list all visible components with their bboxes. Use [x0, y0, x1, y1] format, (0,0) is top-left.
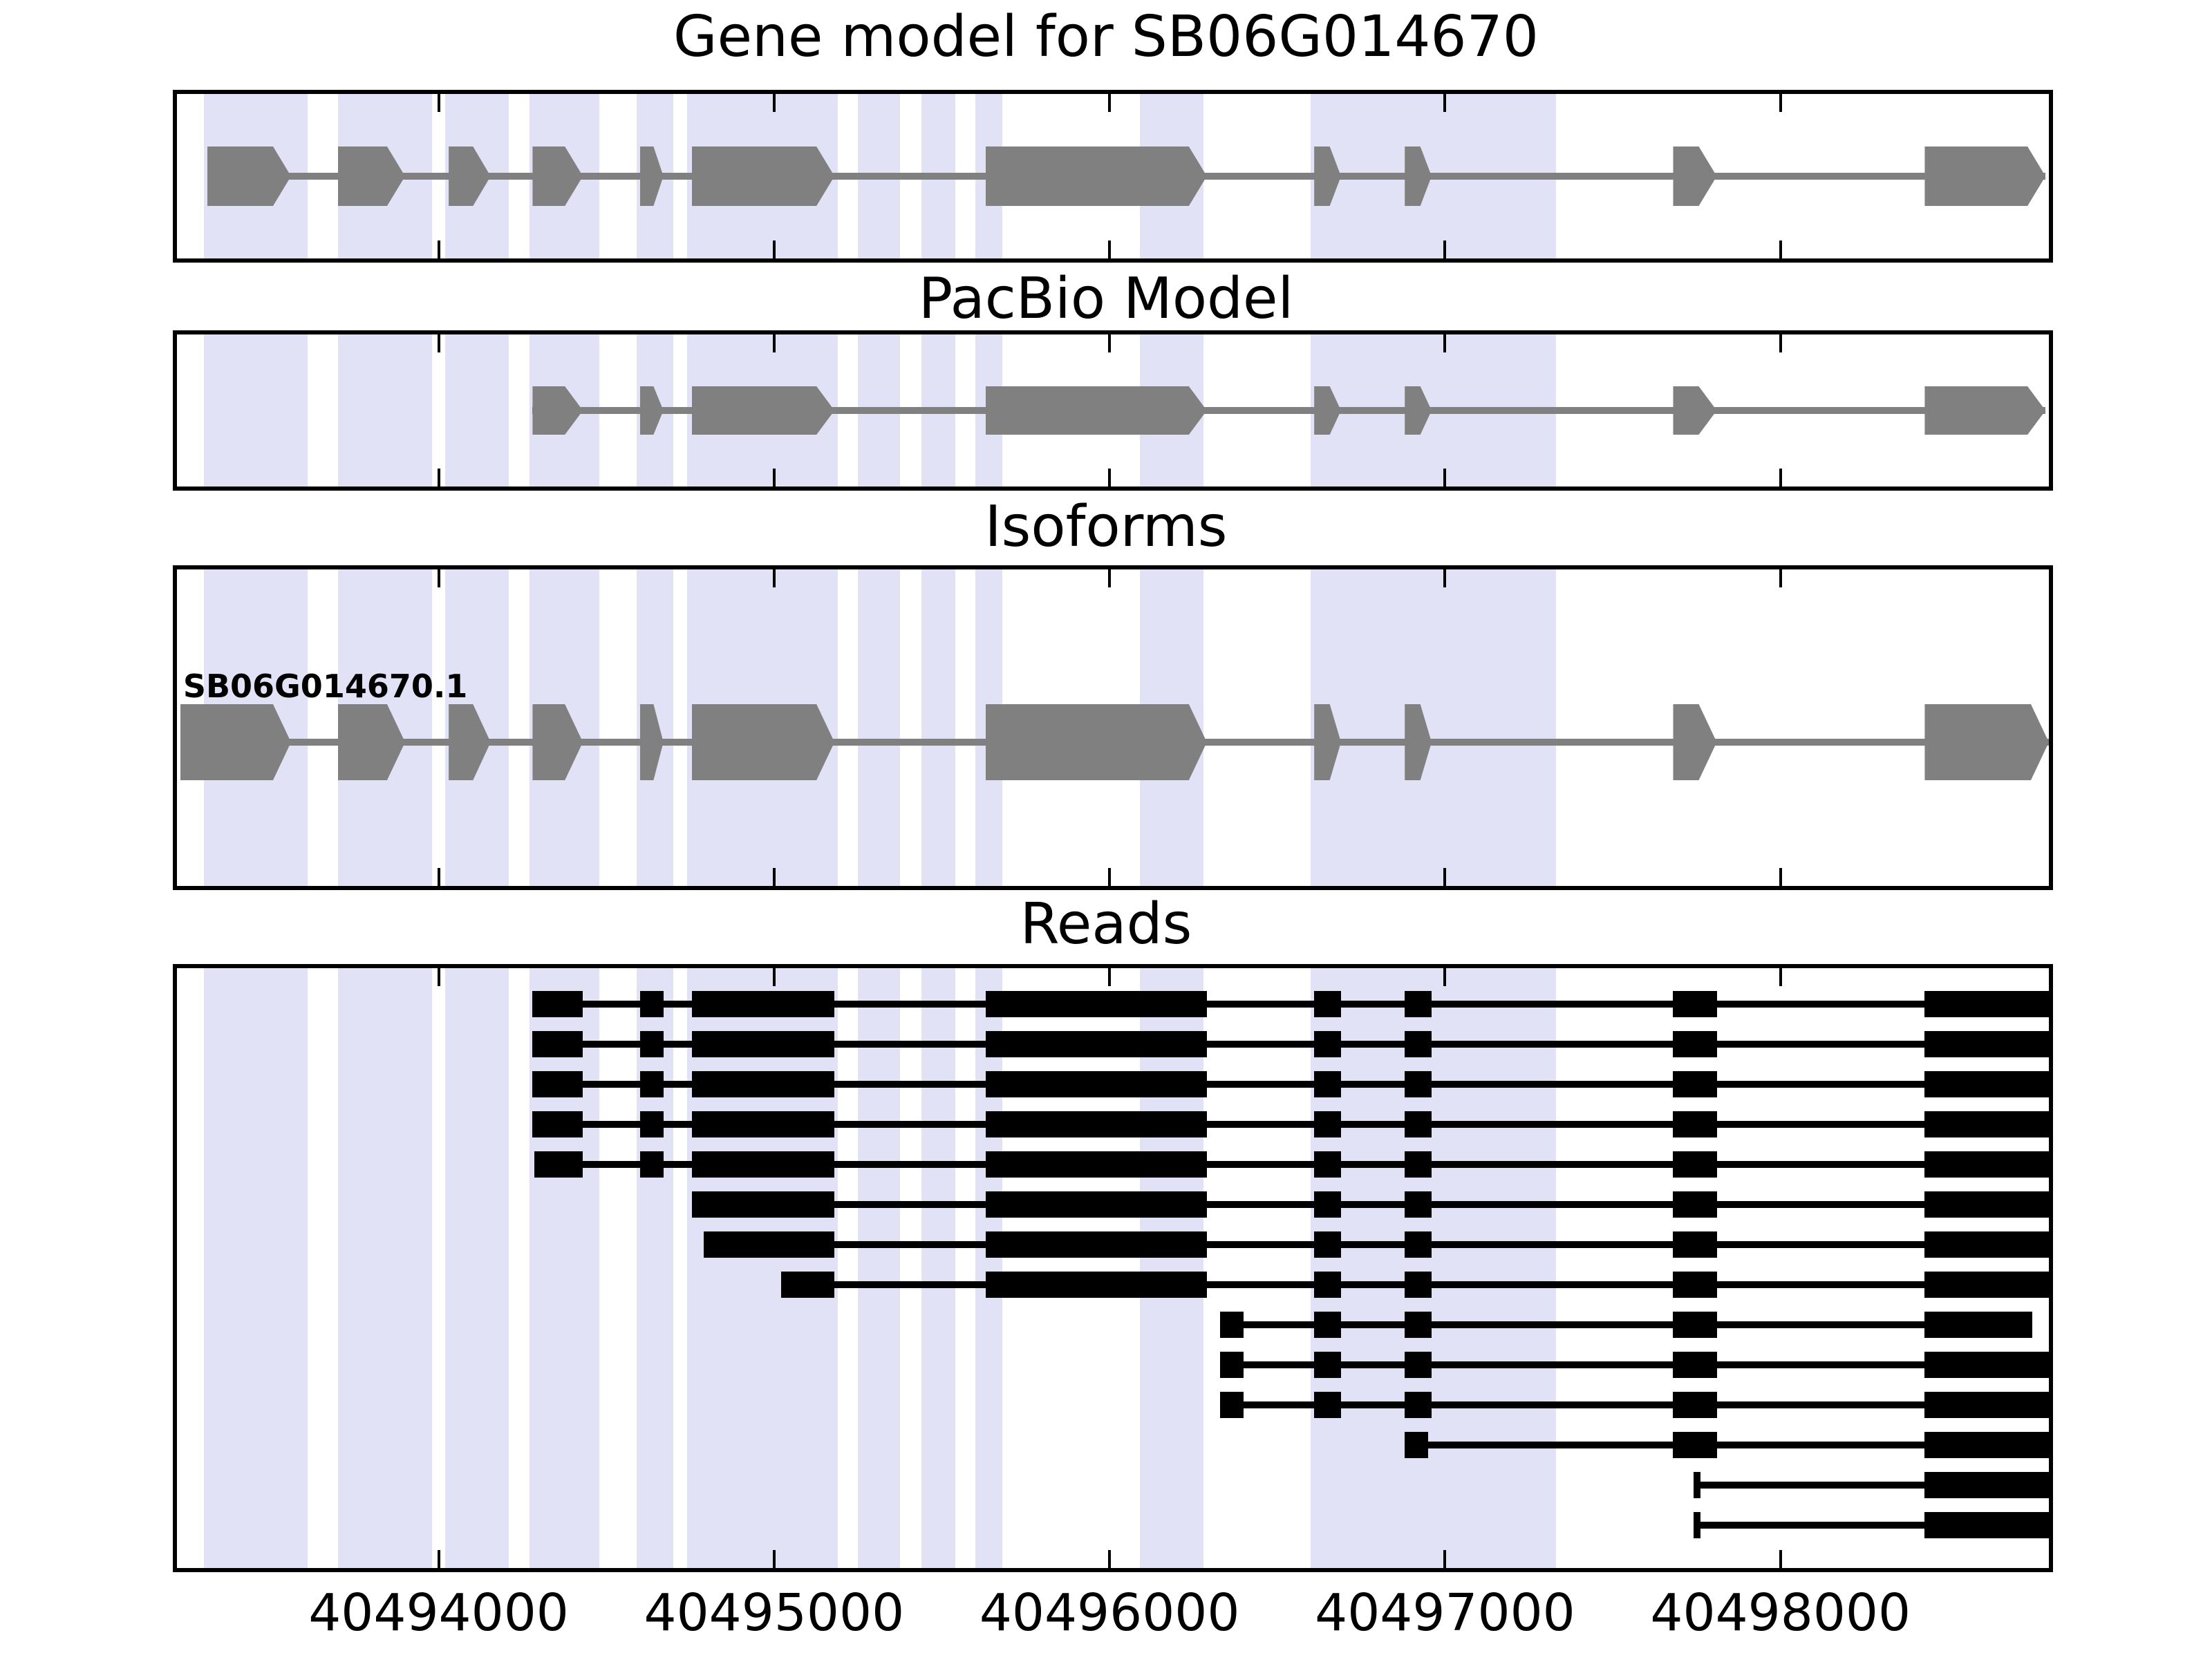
axis-tick-mark	[773, 1550, 776, 1568]
read-intron-line	[692, 1201, 2049, 1208]
read-block	[1673, 1111, 1716, 1137]
panel-title-reads: Reads	[0, 891, 2212, 957]
axis-tick-mark	[1108, 240, 1111, 258]
axis-tick-mark	[1779, 240, 1782, 258]
highlight-band	[858, 569, 900, 886]
exon-block	[207, 147, 291, 206]
read-block	[692, 991, 834, 1017]
read-block	[1673, 1231, 1716, 1258]
x-axis-tick-label: 40497000	[1315, 1583, 1575, 1643]
read-block	[781, 1272, 835, 1298]
axis-tick-mark	[1779, 94, 1782, 112]
isoform-label: SB06G014670.1	[183, 668, 467, 705]
exon-block	[1673, 704, 1716, 780]
axis-tick-mark	[1443, 1550, 1446, 1568]
read-block	[1924, 1512, 2049, 1538]
axis-tick-mark	[1108, 1550, 1111, 1568]
read-block	[1314, 1272, 1341, 1298]
highlight-band	[445, 968, 509, 1568]
x-axis-tick-label: 40496000	[980, 1583, 1240, 1643]
read-block	[532, 1071, 583, 1097]
panel-reads	[173, 964, 2053, 1572]
x-axis-labels: 4049400040495000404960004049700040498000	[0, 1579, 2212, 1662]
axis-tick-mark	[1779, 334, 1782, 352]
x-axis-tick-label: 40498000	[1650, 1583, 1911, 1643]
read-block	[1314, 1231, 1341, 1258]
read-block	[1405, 1071, 1432, 1097]
axis-tick-mark	[773, 868, 776, 886]
panel-title-isoforms: Isoforms	[0, 494, 2212, 560]
axis-tick-mark	[1443, 334, 1446, 352]
axis-tick-mark	[1108, 334, 1111, 352]
read-block	[1405, 1392, 1432, 1418]
panel-isoforms: SB06G014670.1	[173, 565, 2053, 890]
read-block	[986, 1191, 1207, 1218]
axis-tick-mark	[1443, 868, 1446, 886]
read-block	[986, 1071, 1207, 1097]
axis-tick-mark	[438, 1550, 440, 1568]
read-block	[1314, 991, 1341, 1017]
read-block	[1924, 1352, 2049, 1378]
exon-block	[1673, 386, 1716, 435]
axis-tick-mark	[1108, 94, 1111, 112]
panel-pacbio-model	[173, 330, 2053, 491]
read-block	[1405, 1272, 1432, 1298]
axis-tick-mark	[1443, 94, 1446, 112]
highlight-band	[921, 968, 955, 1568]
axis-tick-mark	[438, 94, 440, 112]
axis-tick-mark	[1108, 868, 1111, 886]
read-block	[1405, 1031, 1432, 1057]
axis-tick-mark	[438, 334, 440, 352]
read-block	[534, 1151, 583, 1178]
read-block	[1405, 1231, 1432, 1258]
exon-block	[986, 147, 1207, 206]
read-block	[1924, 991, 2049, 1017]
axis-tick-mark	[1779, 868, 1782, 886]
highlight-band	[338, 968, 432, 1568]
read-block	[1924, 1432, 2049, 1458]
x-axis-tick-label: 40494000	[308, 1583, 569, 1643]
axis-tick-mark	[1779, 469, 1782, 487]
read-block	[1924, 1472, 2049, 1498]
read-block	[1694, 1472, 1700, 1498]
axis-tick-mark	[773, 968, 776, 986]
x-axis-tick-label: 40495000	[644, 1583, 905, 1643]
read-block	[1673, 1352, 1716, 1378]
read-block	[1673, 1031, 1716, 1057]
gene-track-figure: Gene model for SB06G014670 PacBio Model …	[0, 0, 2212, 1659]
highlight-band	[445, 334, 509, 487]
axis-tick-mark	[773, 469, 776, 487]
axis-tick-mark	[1779, 1550, 1782, 1568]
read-block	[532, 991, 583, 1017]
read-block	[986, 1031, 1207, 1057]
read-block	[1405, 1352, 1432, 1378]
read-block	[640, 991, 664, 1017]
axis-tick-mark	[1108, 469, 1111, 487]
read-block	[1673, 1151, 1716, 1178]
read-block	[640, 1151, 664, 1178]
highlight-band	[1311, 968, 1555, 1568]
highlight-band	[529, 968, 600, 1568]
read-block	[1673, 1392, 1716, 1418]
read-block	[1314, 1352, 1341, 1378]
read-block	[1924, 1231, 2049, 1258]
axis-tick-mark	[1443, 569, 1446, 587]
read-block	[1673, 1432, 1716, 1458]
read-block	[1405, 991, 1432, 1017]
read-block	[1220, 1312, 1244, 1338]
read-block	[1314, 1312, 1341, 1338]
highlight-band	[204, 334, 308, 487]
exon-block	[692, 386, 834, 435]
read-block	[1673, 1071, 1716, 1097]
axis-tick-mark	[1108, 569, 1111, 587]
highlight-band	[975, 968, 1002, 1568]
exon-block	[1924, 704, 2049, 780]
read-intron-line	[1220, 1321, 2032, 1328]
read-block	[986, 1111, 1207, 1137]
read-block	[692, 1111, 834, 1137]
read-block	[1314, 1031, 1341, 1057]
axis-tick-mark	[773, 334, 776, 352]
exon-block	[692, 704, 834, 780]
axis-tick-mark	[1108, 968, 1111, 986]
read-block	[1220, 1392, 1244, 1418]
read-block	[1924, 1392, 2049, 1418]
highlight-band	[637, 968, 673, 1568]
axis-tick-mark	[1443, 240, 1446, 258]
read-block	[532, 1031, 583, 1057]
read-block	[692, 1071, 834, 1097]
axis-tick-mark	[438, 240, 440, 258]
axis-tick-mark	[438, 868, 440, 886]
exon-block	[1673, 147, 1716, 206]
read-block	[1405, 1151, 1432, 1178]
axis-tick-mark	[438, 569, 440, 587]
read-block	[1673, 1272, 1716, 1298]
highlight-band	[338, 334, 432, 487]
axis-tick-mark	[1443, 469, 1446, 487]
read-block	[1314, 1071, 1341, 1097]
read-block	[1405, 1432, 1428, 1458]
axis-tick-mark	[1779, 569, 1782, 587]
read-block	[1673, 1191, 1716, 1218]
exon-block	[692, 147, 834, 206]
read-block	[692, 1151, 834, 1178]
highlight-band	[687, 968, 838, 1568]
read-block	[1924, 1031, 2049, 1057]
read-block	[986, 991, 1207, 1017]
highlight-band	[1311, 569, 1555, 886]
read-block	[532, 1111, 583, 1137]
read-block	[704, 1231, 834, 1258]
axis-tick-mark	[773, 240, 776, 258]
read-block	[1673, 991, 1716, 1017]
exon-block	[986, 386, 1207, 435]
read-block	[986, 1231, 1207, 1258]
read-block	[692, 1191, 834, 1218]
exon-block	[1924, 147, 2045, 206]
read-block	[640, 1071, 664, 1097]
read-block	[1924, 1071, 2049, 1097]
axis-tick-mark	[438, 469, 440, 487]
axis-tick-mark	[1779, 968, 1782, 986]
read-block	[1924, 1191, 2049, 1218]
read-block	[986, 1272, 1207, 1298]
exon-block	[180, 704, 291, 780]
read-block	[1924, 1272, 2049, 1298]
read-block	[640, 1031, 664, 1057]
panel-title-pacbio-model: PacBio Model	[0, 266, 2212, 332]
exon-block	[1924, 386, 2045, 435]
panel-title-gene-model: Gene model for SB06G014670	[0, 4, 2212, 70]
read-block	[1924, 1111, 2049, 1137]
highlight-band	[1140, 968, 1203, 1568]
read-block	[1405, 1312, 1432, 1338]
read-block	[1405, 1111, 1432, 1137]
read-intron-line	[704, 1241, 2049, 1248]
highlight-band	[921, 569, 955, 886]
axis-tick-mark	[773, 569, 776, 587]
read-block	[1924, 1151, 2049, 1178]
read-block	[1694, 1512, 1700, 1538]
exon-block	[986, 704, 1207, 780]
read-block	[1405, 1191, 1432, 1218]
read-block	[986, 1151, 1207, 1178]
panel-gene-model	[173, 90, 2053, 263]
read-block	[1314, 1151, 1341, 1178]
axis-tick-mark	[773, 94, 776, 112]
read-block	[1314, 1191, 1341, 1218]
highlight-band	[204, 968, 308, 1568]
axis-tick-mark	[438, 968, 440, 986]
read-block	[1924, 1312, 2032, 1338]
axis-tick-mark	[1443, 968, 1446, 986]
highlight-band	[858, 968, 900, 1568]
read-block	[1314, 1111, 1341, 1137]
read-block	[1220, 1352, 1244, 1378]
read-block	[1314, 1392, 1341, 1418]
read-block	[640, 1111, 664, 1137]
read-block	[692, 1031, 834, 1057]
read-block	[1673, 1312, 1716, 1338]
